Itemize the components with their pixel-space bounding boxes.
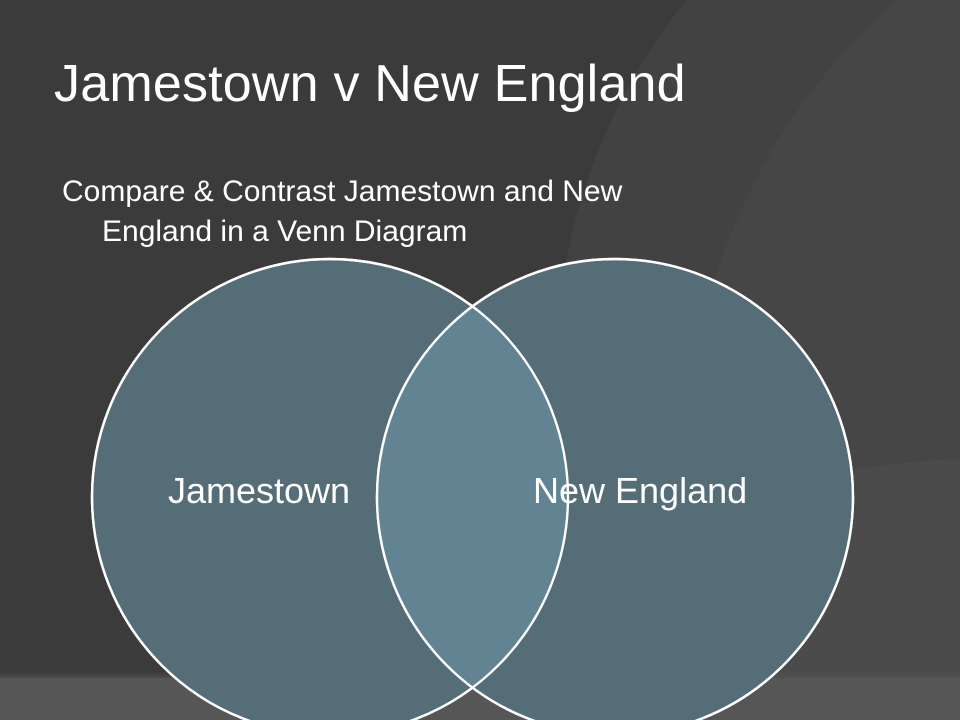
page-title: Jamestown v New England [54,56,914,113]
subtitle-line-2: England in a Venn Diagram [62,212,842,252]
slide-subtitle: Compare & Contrast Jamestown and New Eng… [62,172,842,251]
venn-label-right: New England [533,473,747,509]
slide-canvas: Jamestown New England Jamestown v New En… [0,0,960,720]
venn-label-left: Jamestown [168,473,350,509]
subtitle-line-1: Compare & Contrast Jamestown and New [62,175,622,208]
